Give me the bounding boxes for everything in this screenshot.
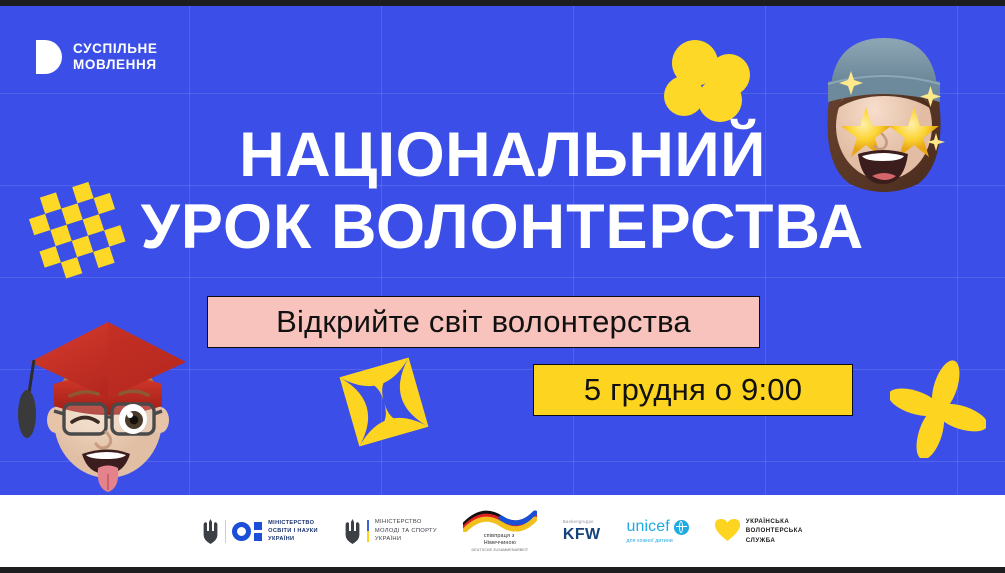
subtitle-banner: Відкрийте світ волонтерства [207, 296, 760, 348]
kfw-top-text: Bankengruppe [563, 519, 594, 524]
star-struck-memoji-with-beanie [800, 22, 968, 202]
unicef-tagline: для кожної дитини [627, 538, 673, 544]
four-point-star-square-icon [339, 357, 428, 446]
partner-logo-unicef: unicef для кожної дитини [627, 518, 689, 544]
trident-icon [202, 519, 219, 544]
datetime-text: 5 грудня о 9:00 [584, 372, 802, 408]
partner-logo-kfw: Bankengruppe KFW [563, 519, 601, 544]
partner-logo-germany: співпраця з Німеччиною DEUTSCHE ZUSAMMEN… [463, 510, 537, 553]
partner-logo-uvs: УКРАЇНСЬКА ВОЛОНТЕРСЬКА СЛУЖБА [715, 517, 803, 545]
unicef-globe-icon [674, 520, 689, 535]
partner-logos-strip: МІНІСТЕРСТВО ОСВІТИ І НАУКИ УКРАЇНИ МІНІ… [0, 495, 1005, 567]
poster-stage: СУСПІЛЬНЕ МОВЛЕННЯ [0, 6, 1005, 495]
top-bezel [0, 0, 1005, 6]
divider [225, 520, 226, 543]
partner-logo-msport: МІНІСТЕРСТВО МОЛОДІ ТА СПОРТУ УКРАЇНИ [344, 518, 437, 544]
brand-name: СУСПІЛЬНЕ МОВЛЕННЯ [73, 41, 158, 73]
four-dots-cluster-icon [664, 34, 754, 122]
partner-logo-mon: МІНІСТЕРСТВО ОСВІТИ І НАУКИ УКРАЇНИ [202, 519, 318, 544]
subtitle-text: Відкрийте світ волонтерства [276, 304, 691, 340]
graduate-memoji-tongue-out [8, 298, 200, 494]
half-moon-icon [36, 40, 62, 74]
title-line-2: УРОК ВОЛОНТЕРСТВА [0, 196, 1005, 258]
partner-name-msport: МІНІСТЕРСТВО МОЛОДІ ТА СПОРТУ УКРАЇНИ [375, 518, 437, 544]
four-petal-flower-icon [890, 358, 986, 458]
heart-icon [715, 519, 740, 542]
unicef-wordmark: unicef [627, 518, 670, 536]
trident-icon [344, 519, 361, 544]
kfw-wordmark: KFW [563, 526, 601, 544]
partner-name-germany: співпраця з Німеччиною [484, 533, 516, 548]
brand-logo: СУСПІЛЬНЕ МОВЛЕННЯ [36, 40, 158, 74]
german-ukraine-flag-ribbon-icon [463, 510, 537, 532]
divider [367, 520, 369, 542]
partner-name-uvs: УКРАЇНСЬКА ВОЛОНТЕРСЬКА СЛУЖБА [746, 517, 803, 545]
partner-subtext-germany: DEUTSCHE ZUSAMMENARBEIT [472, 548, 529, 552]
poster: СУСПІЛЬНЕ МОВЛЕННЯ [0, 0, 1005, 573]
datetime-banner: 5 грудня о 9:00 [533, 364, 853, 416]
partner-name-mon: МІНІСТЕРСТВО ОСВІТИ І НАУКИ УКРАЇНИ [268, 519, 318, 543]
bottom-bezel [0, 567, 1005, 573]
mon-emblem-icon [232, 522, 262, 541]
